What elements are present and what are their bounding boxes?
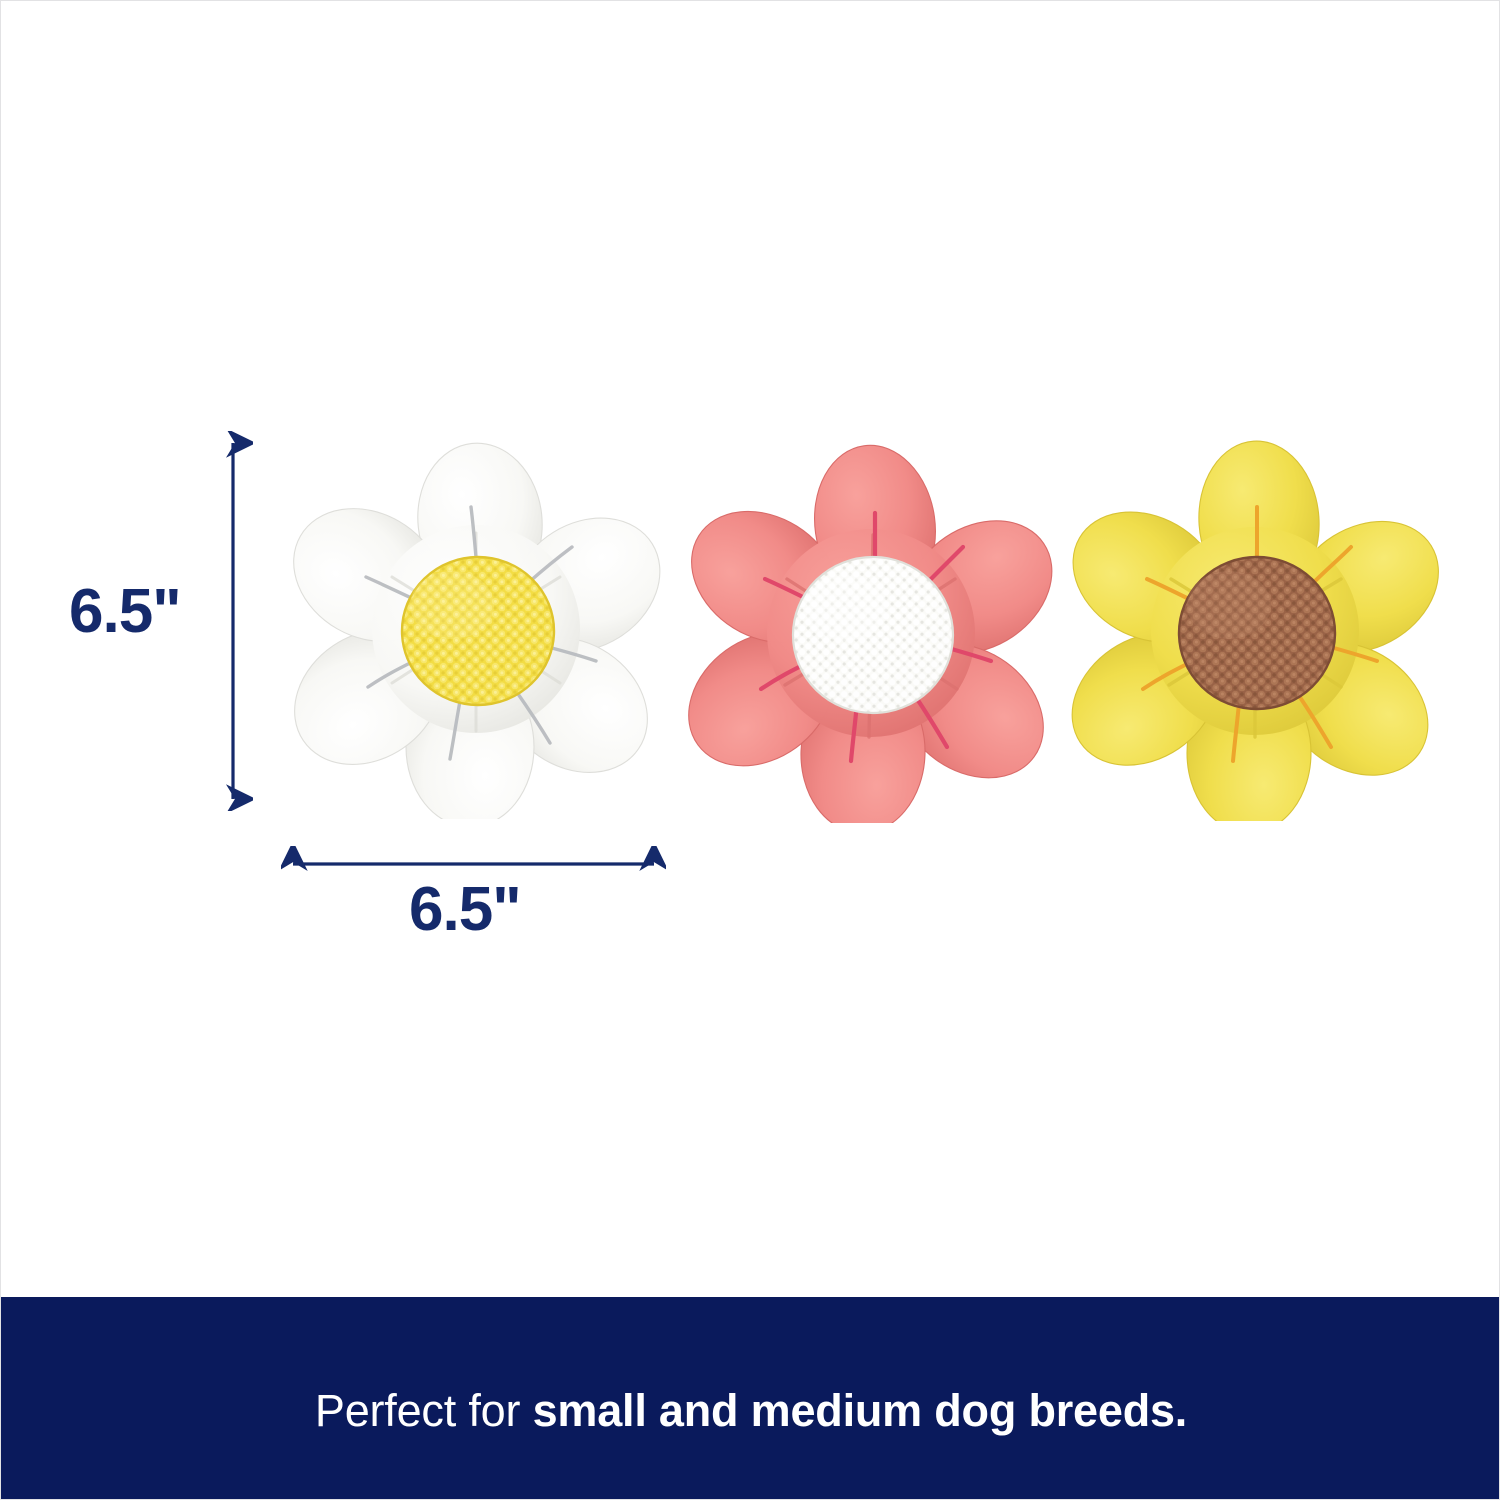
pink-flower-center [793, 557, 953, 713]
white-daisy-flower-toy [284, 429, 674, 819]
daisy-center [402, 557, 554, 705]
product-photo-group [1, 1, 1500, 1301]
banner-caption: Perfect for small and medium dog breeds. [315, 1385, 1187, 1437]
product-image-canvas: 6.5" 6.5" [0, 0, 1500, 1500]
banner-caption-lead: Perfect for [315, 1385, 533, 1436]
sunflower-center [1179, 557, 1335, 709]
yellow-sunflower-toy [1063, 431, 1453, 821]
bottom-banner: Perfect for small and medium dog breeds. [1, 1297, 1500, 1499]
coral-pink-flower-toy [679, 433, 1069, 823]
banner-caption-strong: small and medium dog breeds. [533, 1385, 1188, 1436]
